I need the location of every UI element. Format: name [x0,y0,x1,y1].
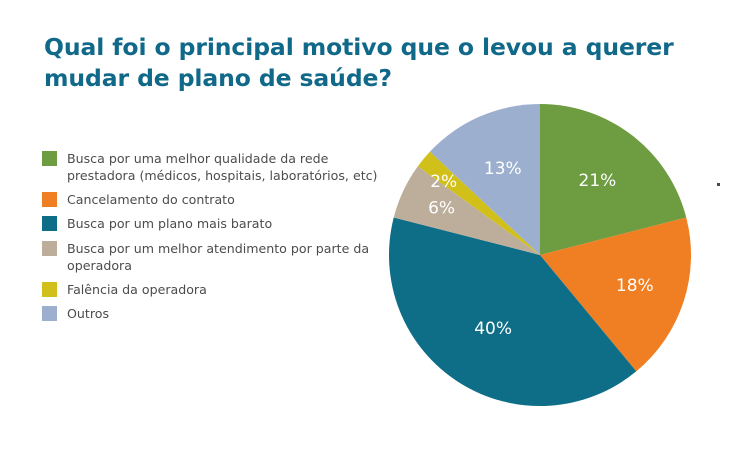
pie-slice-value-label: 40% [474,319,512,339]
stray-artifact-dot [717,183,720,186]
pie-slice-value-label: 18% [616,276,654,296]
legend-label-melhor-atendimento: Busca por um melhor atendimento por part… [67,240,382,274]
legend-item-cancelamento[interactable]: Cancelamento do contrato [42,191,382,208]
legend-swatch-green [42,151,57,166]
legend-label-falencia: Falência da operadora [67,281,207,298]
legend-swatch-yellow [42,282,57,297]
pie-graphic: 21%18%40%6%2%13% [388,103,692,407]
pie-slice-value-label: 21% [579,171,617,191]
pie-slices [389,104,691,406]
page-title: Qual foi o principal motivo que o levou … [44,32,724,95]
pie-slice-value-label: 6% [428,199,455,219]
legend-label-qualidade-rede: Busca por uma melhor qualidade da rede p… [67,150,382,184]
pie-slice-value-label: 2% [430,172,457,192]
chart-legend: Busca por uma melhor qualidade da rede p… [42,150,382,329]
legend-item-qualidade-rede[interactable]: Busca por uma melhor qualidade da rede p… [42,150,382,184]
legend-label-plano-barato: Busca por um plano mais barato [67,215,272,232]
legend-label-cancelamento: Cancelamento do contrato [67,191,235,208]
legend-swatch-lightblue [42,306,57,321]
legend-item-outros[interactable]: Outros [42,305,382,322]
pie-chart-figure: Qual foi o principal motivo que o levou … [0,0,750,450]
legend-item-plano-barato[interactable]: Busca por um plano mais barato [42,215,382,232]
legend-item-falencia[interactable]: Falência da operadora [42,281,382,298]
pie-slice-value-label: 13% [484,159,522,179]
legend-label-outros: Outros [67,305,109,322]
legend-swatch-teal [42,216,57,231]
legend-swatch-orange [42,192,57,207]
legend-item-melhor-atendimento[interactable]: Busca por um melhor atendimento por part… [42,240,382,274]
legend-swatch-tan [42,241,57,256]
